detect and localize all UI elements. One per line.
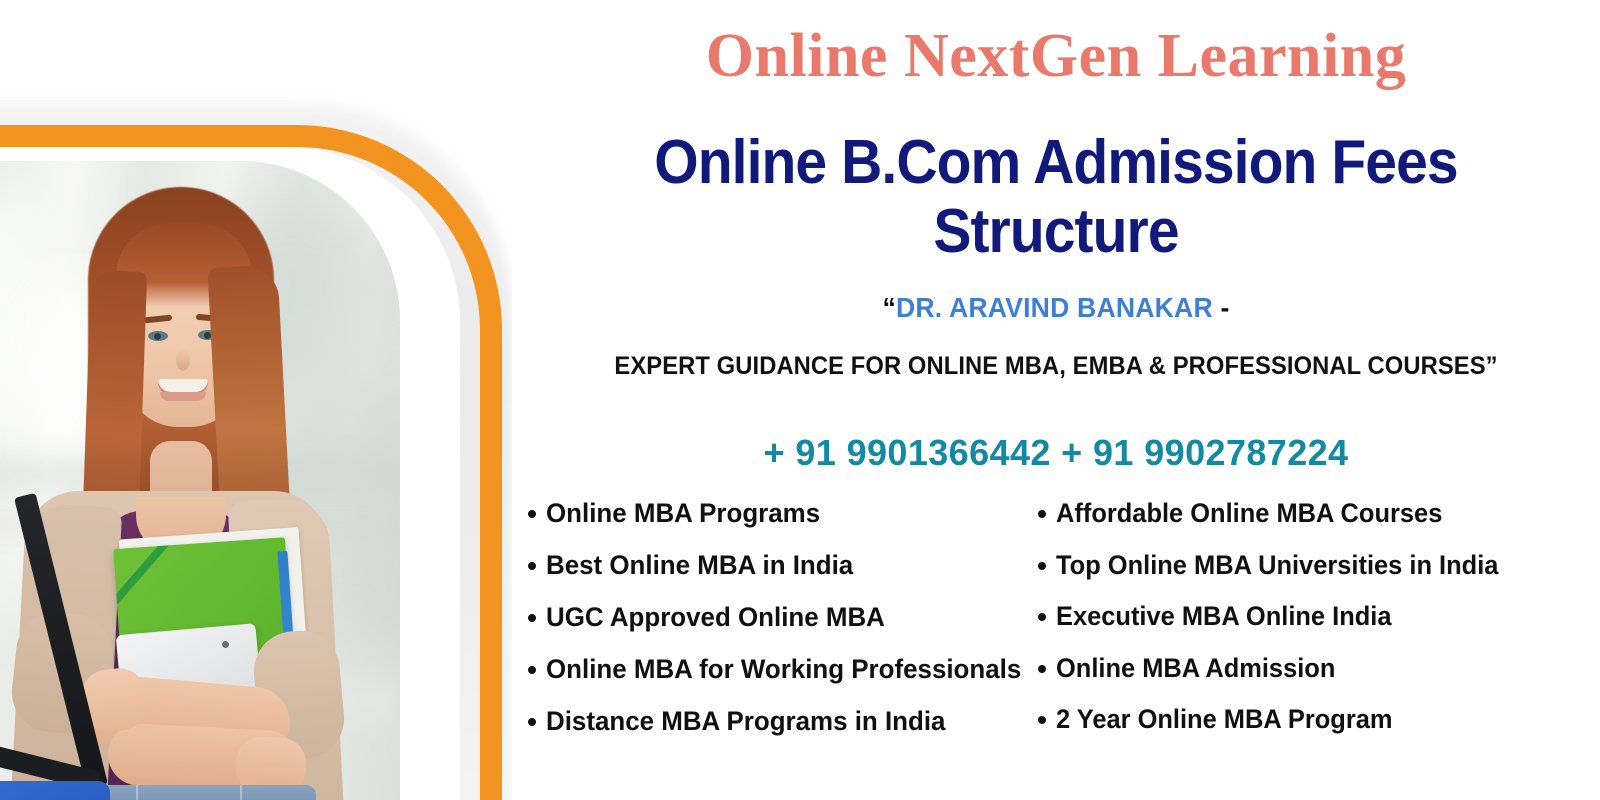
nose	[176, 349, 190, 371]
list-item-label: Affordable Online MBA Courses	[1056, 500, 1442, 527]
photo-frame	[0, 125, 512, 800]
jeans-seam	[136, 785, 138, 800]
expert-subtitle-line2: EXPERT GUIDANCE FOR ONLINE MBA, EMBA & P…	[539, 352, 1573, 381]
list-item: Executive MBA Online India	[1038, 603, 1578, 630]
jeans-seam	[240, 785, 242, 800]
list-item: Top Online MBA Universities in India	[1038, 552, 1578, 579]
list-item: 2 Year Online MBA Program	[1038, 706, 1578, 733]
list-item-label: Executive MBA Online India	[1056, 603, 1392, 630]
list-item: Online MBA Admission	[1038, 655, 1578, 682]
brand-title: Online NextGen Learning	[512, 24, 1600, 89]
page-title: Online B.Com Admission Fees Structure	[592, 128, 1519, 267]
keyword-list-right: Affordable Online MBA Courses Top Online…	[1038, 500, 1578, 760]
list-item: Best Online MBA in India	[528, 552, 1038, 579]
lower-lip	[160, 392, 206, 401]
bullet-icon	[1038, 613, 1046, 621]
bullet-icon	[528, 666, 536, 674]
bullet-icon	[528, 510, 536, 518]
list-item: Online MBA Programs	[528, 500, 1038, 527]
expert-subtitle-line1: “DR. ARAVIND BANAKAR -	[539, 292, 1573, 324]
promo-banner: Online NextGen Learning Online B.Com Adm…	[0, 0, 1600, 800]
bullet-icon	[1038, 510, 1046, 518]
page-title-line1: Online B.Com Admission Fees	[592, 128, 1519, 197]
bullet-icon	[528, 614, 536, 622]
blue-shoulder-bag	[0, 781, 110, 800]
list-item: Distance MBA Programs in India	[528, 708, 1038, 735]
keyword-list-left: Online MBA Programs Best Online MBA in I…	[528, 500, 1038, 760]
contact-phone-numbers[interactable]: + 91 9901366442 + 91 9902787224	[512, 432, 1600, 474]
list-item-label: Distance MBA Programs in India	[546, 708, 945, 735]
list-item-label: Best Online MBA in India	[546, 552, 853, 579]
expert-name: DR. ARAVIND BANAKAR	[896, 292, 1213, 323]
list-item: UGC Approved Online MBA	[528, 604, 1038, 631]
bullet-icon	[528, 718, 536, 726]
content-column: Online NextGen Learning Online B.Com Adm…	[512, 0, 1600, 800]
list-item: Online MBA for Working Professionals	[528, 656, 1038, 683]
page-title-line2: Structure	[592, 197, 1519, 266]
open-quote: “	[882, 292, 895, 323]
student-figure	[0, 161, 400, 800]
student-photo	[0, 161, 400, 800]
list-item-label: Top Online MBA Universities in India	[1056, 552, 1498, 579]
list-item-label: UGC Approved Online MBA	[546, 604, 885, 631]
bullet-icon	[1038, 665, 1046, 673]
eye	[148, 331, 168, 341]
list-item-label: Online MBA Programs	[546, 500, 820, 527]
list-item: Affordable Online MBA Courses	[1038, 500, 1578, 527]
list-item-label: Online MBA for Working Professionals	[546, 656, 1021, 683]
bullet-icon	[1038, 562, 1046, 570]
keyword-lists: Online MBA Programs Best Online MBA in I…	[528, 500, 1590, 760]
bullet-icon	[528, 562, 536, 570]
list-item-label: 2 Year Online MBA Program	[1056, 706, 1392, 733]
list-item-label: Online MBA Admission	[1056, 655, 1335, 682]
bullet-icon	[1038, 716, 1046, 724]
subtitle-dash: -	[1213, 292, 1230, 323]
